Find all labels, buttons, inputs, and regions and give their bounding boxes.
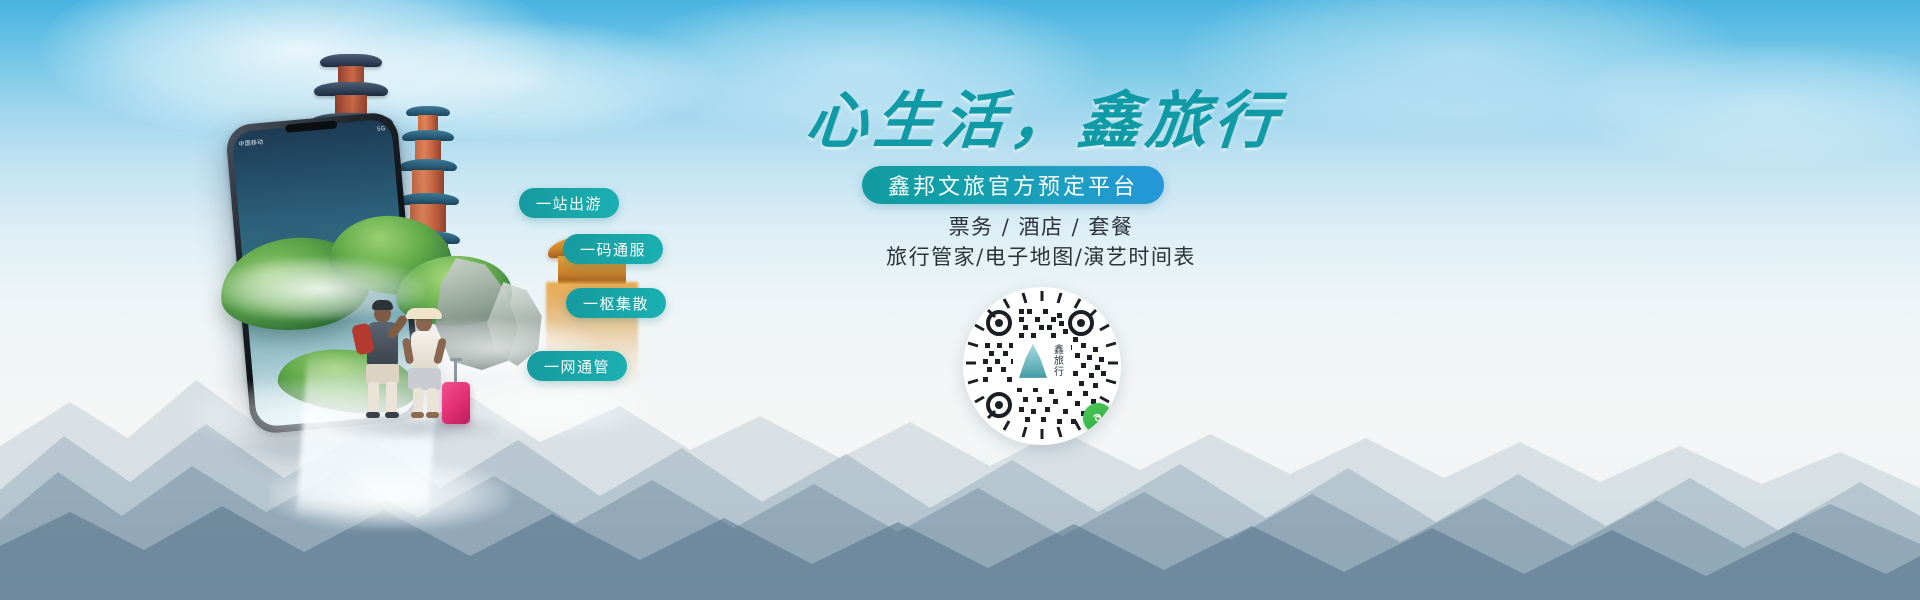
qr-center-logo: 鑫 旅 行 — [1013, 338, 1071, 388]
feature-pill-one-stop-tour[interactable]: 一站出游 — [519, 188, 619, 218]
qr-brand-label: 鑫 旅 行 — [1051, 345, 1067, 378]
feature-pill-one-code-service[interactable]: 一码通服 — [563, 234, 663, 264]
platform-badge[interactable]: 鑫邦文旅官方预定平台 — [862, 166, 1164, 204]
qr-brand-char: 行 — [1051, 367, 1067, 378]
page-title: 心生活，鑫旅行 — [803, 82, 1280, 160]
qr-brand-char: 旅 — [1051, 356, 1067, 367]
travellers-icon — [346, 298, 516, 468]
suitcase-handle — [454, 360, 457, 384]
feature-pill-label: 一站出游 — [536, 193, 602, 214]
qr-code-disc: 鑫 旅 行 — [963, 287, 1121, 445]
feature-pill-label: 一码通服 — [580, 239, 646, 260]
service-subtitle: 票务 / 酒店 / 套餐 旅行管家/电子地图/演艺时间表 — [806, 212, 1276, 272]
miniprogram-glyph — [1089, 409, 1107, 427]
feature-pill-one-network-management[interactable]: 一网通管 — [527, 351, 627, 381]
feature-pill-label: 一枢集散 — [583, 293, 649, 314]
mountain-logo-icon — [1019, 344, 1047, 378]
cloud-icon — [1560, 40, 1920, 170]
qr-code-icon[interactable]: 鑫 旅 行 — [963, 287, 1121, 445]
feature-pill-one-hub-distribution[interactable]: 一枢集散 — [566, 288, 666, 318]
platform-badge-label: 鑫邦文旅官方预定平台 — [888, 169, 1138, 201]
travel-promo-banner: 中国移动 5G — [0, 0, 1920, 600]
phone-network-label: 5G — [377, 126, 386, 136]
wechat-miniprogram-icon — [1083, 403, 1113, 433]
waterfall-spray — [270, 460, 510, 530]
subtitle-line: 旅行管家/电子地图/演艺时间表 — [806, 242, 1276, 272]
suitcase-icon — [442, 382, 470, 424]
feature-pill-label: 一网通管 — [544, 356, 610, 377]
qr-brand-char: 鑫 — [1051, 345, 1067, 356]
subtitle-line: 票务 / 酒店 / 套餐 — [806, 212, 1276, 242]
